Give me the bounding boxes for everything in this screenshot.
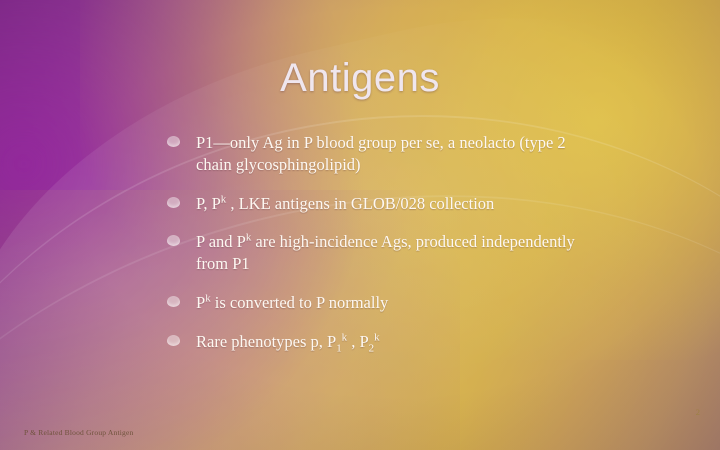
- list-item-label: Pk is converted to P normally: [196, 293, 388, 312]
- list-item-label: P1—only Ag in P blood group per se, a ne…: [196, 133, 566, 174]
- list-item: P1—only Ag in P blood group per se, a ne…: [163, 132, 593, 176]
- list-item: P, Pk , LKE antigens in GLOB/028 collect…: [163, 193, 593, 215]
- list-item-label: P and Pk are high-incidence Ags, produce…: [196, 232, 575, 273]
- oval-bullet-icon: [167, 335, 180, 346]
- oval-bullet-icon: [167, 296, 180, 307]
- presentation-slide: Antigens P1—only Ag in P blood group per…: [0, 0, 720, 450]
- list-item: Rare phenotypes p, P1k , P2k: [163, 331, 593, 353]
- slide-title: Antigens: [0, 56, 720, 101]
- oval-bullet-icon: [167, 197, 180, 208]
- list-item: Pk is converted to P normally: [163, 292, 593, 314]
- bullet-list: P1—only Ag in P blood group per se, a ne…: [163, 132, 593, 352]
- slide-footer-note: P & Related Blood Group Antigen: [24, 428, 133, 437]
- list-item-label: Rare phenotypes p, P1k , P2k: [196, 332, 380, 351]
- slide-page-number: 2: [696, 407, 700, 417]
- list-item: P and Pk are high-incidence Ags, produce…: [163, 231, 593, 275]
- list-item-label: P, Pk , LKE antigens in GLOB/028 collect…: [196, 194, 494, 213]
- oval-bullet-icon: [167, 136, 180, 147]
- oval-bullet-icon: [167, 235, 180, 246]
